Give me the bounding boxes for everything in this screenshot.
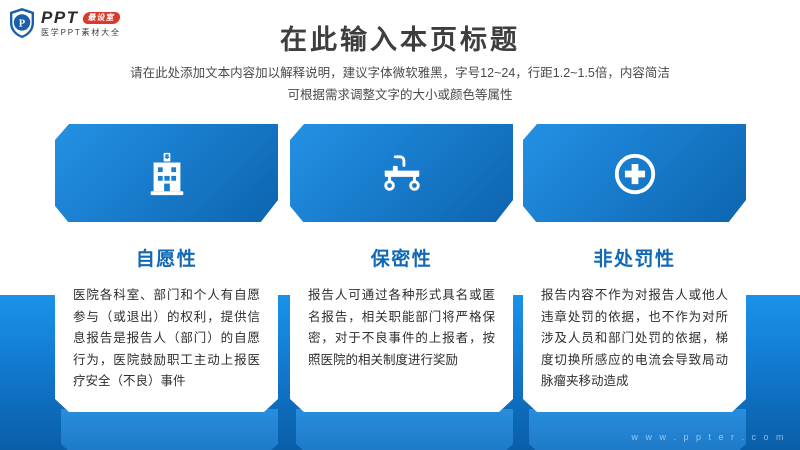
cards-container: 自愿性 医院各科室、部门和个人有自愿参与（或退出）的权利，提供信息报告是报告人（… xyxy=(0,0,800,450)
card-header xyxy=(523,124,746,223)
card-title: 保密性 xyxy=(308,244,495,271)
card-body: 非处罚性 报告内容不作为对报告人或他人违章处罚的依据，也不作为对所涉及人员和部门… xyxy=(523,222,746,412)
card-confidential[interactable]: 保密性 报告人可通过各种形式具名或匿名报告，相关职能部门将严格保密，对于不良事件… xyxy=(290,124,513,412)
card-text: 医院各科室、部门和个人有自愿参与（或退出）的权利，提供信息报告是报告人（部门）的… xyxy=(73,285,260,393)
card-header xyxy=(290,124,513,223)
card-body: 保密性 报告人可通过各种形式具名或匿名报告，相关职能部门将严格保密，对于不良事件… xyxy=(290,222,513,412)
card-non-punitive[interactable]: 非处罚性 报告内容不作为对报告人或他人违章处罚的依据，也不作为对所涉及人员和部门… xyxy=(523,124,746,412)
card-body: 自愿性 医院各科室、部门和个人有自愿参与（或退出）的权利，提供信息报告是报告人（… xyxy=(55,222,278,412)
card-voluntary[interactable]: 自愿性 医院各科室、部门和个人有自愿参与（或退出）的权利，提供信息报告是报告人（… xyxy=(55,124,278,412)
card-base-shadow xyxy=(529,409,746,450)
card-title: 非处罚性 xyxy=(541,244,728,271)
medical-cross-circle-icon xyxy=(612,151,658,197)
card-text: 报告内容不作为对报告人或他人违章处罚的依据，也不作为对所涉及人员和部门处罚的依据… xyxy=(541,285,728,393)
card-title: 自愿性 xyxy=(73,244,260,271)
card-base-shadow xyxy=(296,409,513,450)
slide-root: P PPT 最设室 医学PPT素材大全 在此输入本页标题 请在此处添加文本内容加… xyxy=(0,0,800,450)
watermark: w w w . p p t e r . c o m xyxy=(631,432,786,442)
card-header xyxy=(55,124,278,223)
hospital-building-icon xyxy=(144,151,190,197)
card-text: 报告人可通过各种形式具名或匿名报告，相关职能部门将严格保密，对于不良事件的上报者… xyxy=(308,285,495,371)
hospital-bed-icon xyxy=(379,151,425,197)
card-base-shadow xyxy=(61,409,278,450)
